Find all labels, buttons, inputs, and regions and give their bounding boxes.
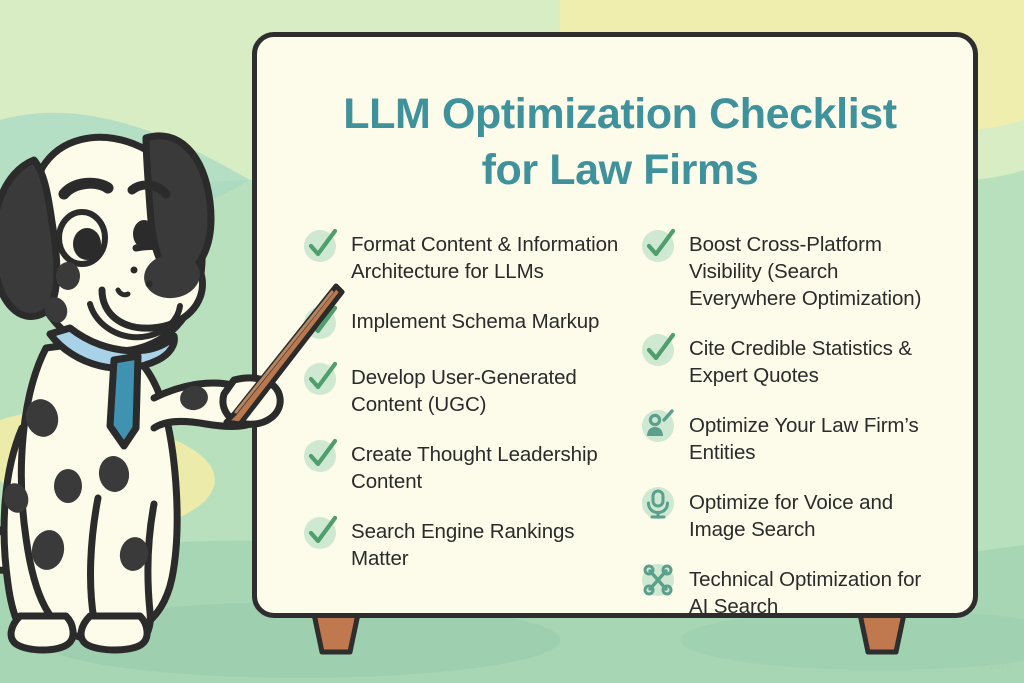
title-line-2: for Law Firms (303, 143, 937, 199)
checklist-item-label: Boost Cross-Platform Visibility (Search … (689, 229, 939, 312)
checklist-item[interactable]: Optimize for Voice and Image Search (641, 487, 939, 543)
checklist-column-left: Format Content & Information Architectur… (303, 229, 621, 642)
checklist-item-label: Technical Optimization for AI Search (689, 564, 939, 620)
checklist-item[interactable]: Cite Credible Statistics & Expert Quotes (641, 333, 939, 389)
checklist-item[interactable]: Technical Optimization for AI Search (641, 564, 939, 620)
checklist-item[interactable]: Format Content & Information Architectur… (303, 229, 621, 285)
check-icon (641, 226, 679, 264)
checklist-item[interactable]: Implement Schema Markup (303, 306, 621, 341)
checklist-item[interactable]: Develop User-Generated Content (UGC) (303, 362, 621, 418)
check-icon (303, 513, 341, 551)
checklist-item-label: Format Content & Information Architectur… (351, 229, 621, 285)
checklist-column-right: Boost Cross-Platform Visibility (Search … (621, 229, 939, 642)
checklist-item-label: Search Engine Rankings Matter (351, 516, 621, 572)
checklist-item-label: Create Thought Leadership Content (351, 439, 621, 495)
check-icon (641, 330, 679, 368)
checklist-item[interactable]: Boost Cross-Platform Visibility (Search … (641, 229, 939, 312)
checklist-item[interactable]: Search Engine Rankings Matter (303, 516, 621, 572)
network-node-icon (641, 561, 679, 599)
presentation-board: LLM Optimization Checklist for Law Firms… (252, 32, 978, 618)
illustration-scene: LLM Optimization Checklist for Law Firms… (0, 0, 1024, 683)
watermark-text: © 2025 (980, 661, 1012, 671)
checklist-columns: Format Content & Information Architectur… (293, 229, 947, 642)
checklist-item-label: Optimize Your Law Firm’s Entities (689, 410, 939, 466)
pointer-stick (220, 280, 350, 430)
microphone-icon (641, 484, 679, 522)
checklist-item-label: Develop User-Generated Content (UGC) (351, 362, 621, 418)
checklist-item-label: Cite Credible Statistics & Expert Quotes (689, 333, 939, 389)
checklist-item-label: Implement Schema Markup (351, 306, 599, 335)
title-line-1: LLM Optimization Checklist (303, 87, 937, 143)
checklist-item[interactable]: Optimize Your Law Firm’s Entities (641, 410, 939, 466)
checklist-item-label: Optimize for Voice and Image Search (689, 487, 939, 543)
check-icon (303, 226, 341, 264)
person-edit-icon (641, 407, 679, 445)
page-title: LLM Optimization Checklist for Law Firms (293, 65, 947, 199)
checklist-item[interactable]: Create Thought Leadership Content (303, 439, 621, 495)
check-icon (303, 436, 341, 474)
